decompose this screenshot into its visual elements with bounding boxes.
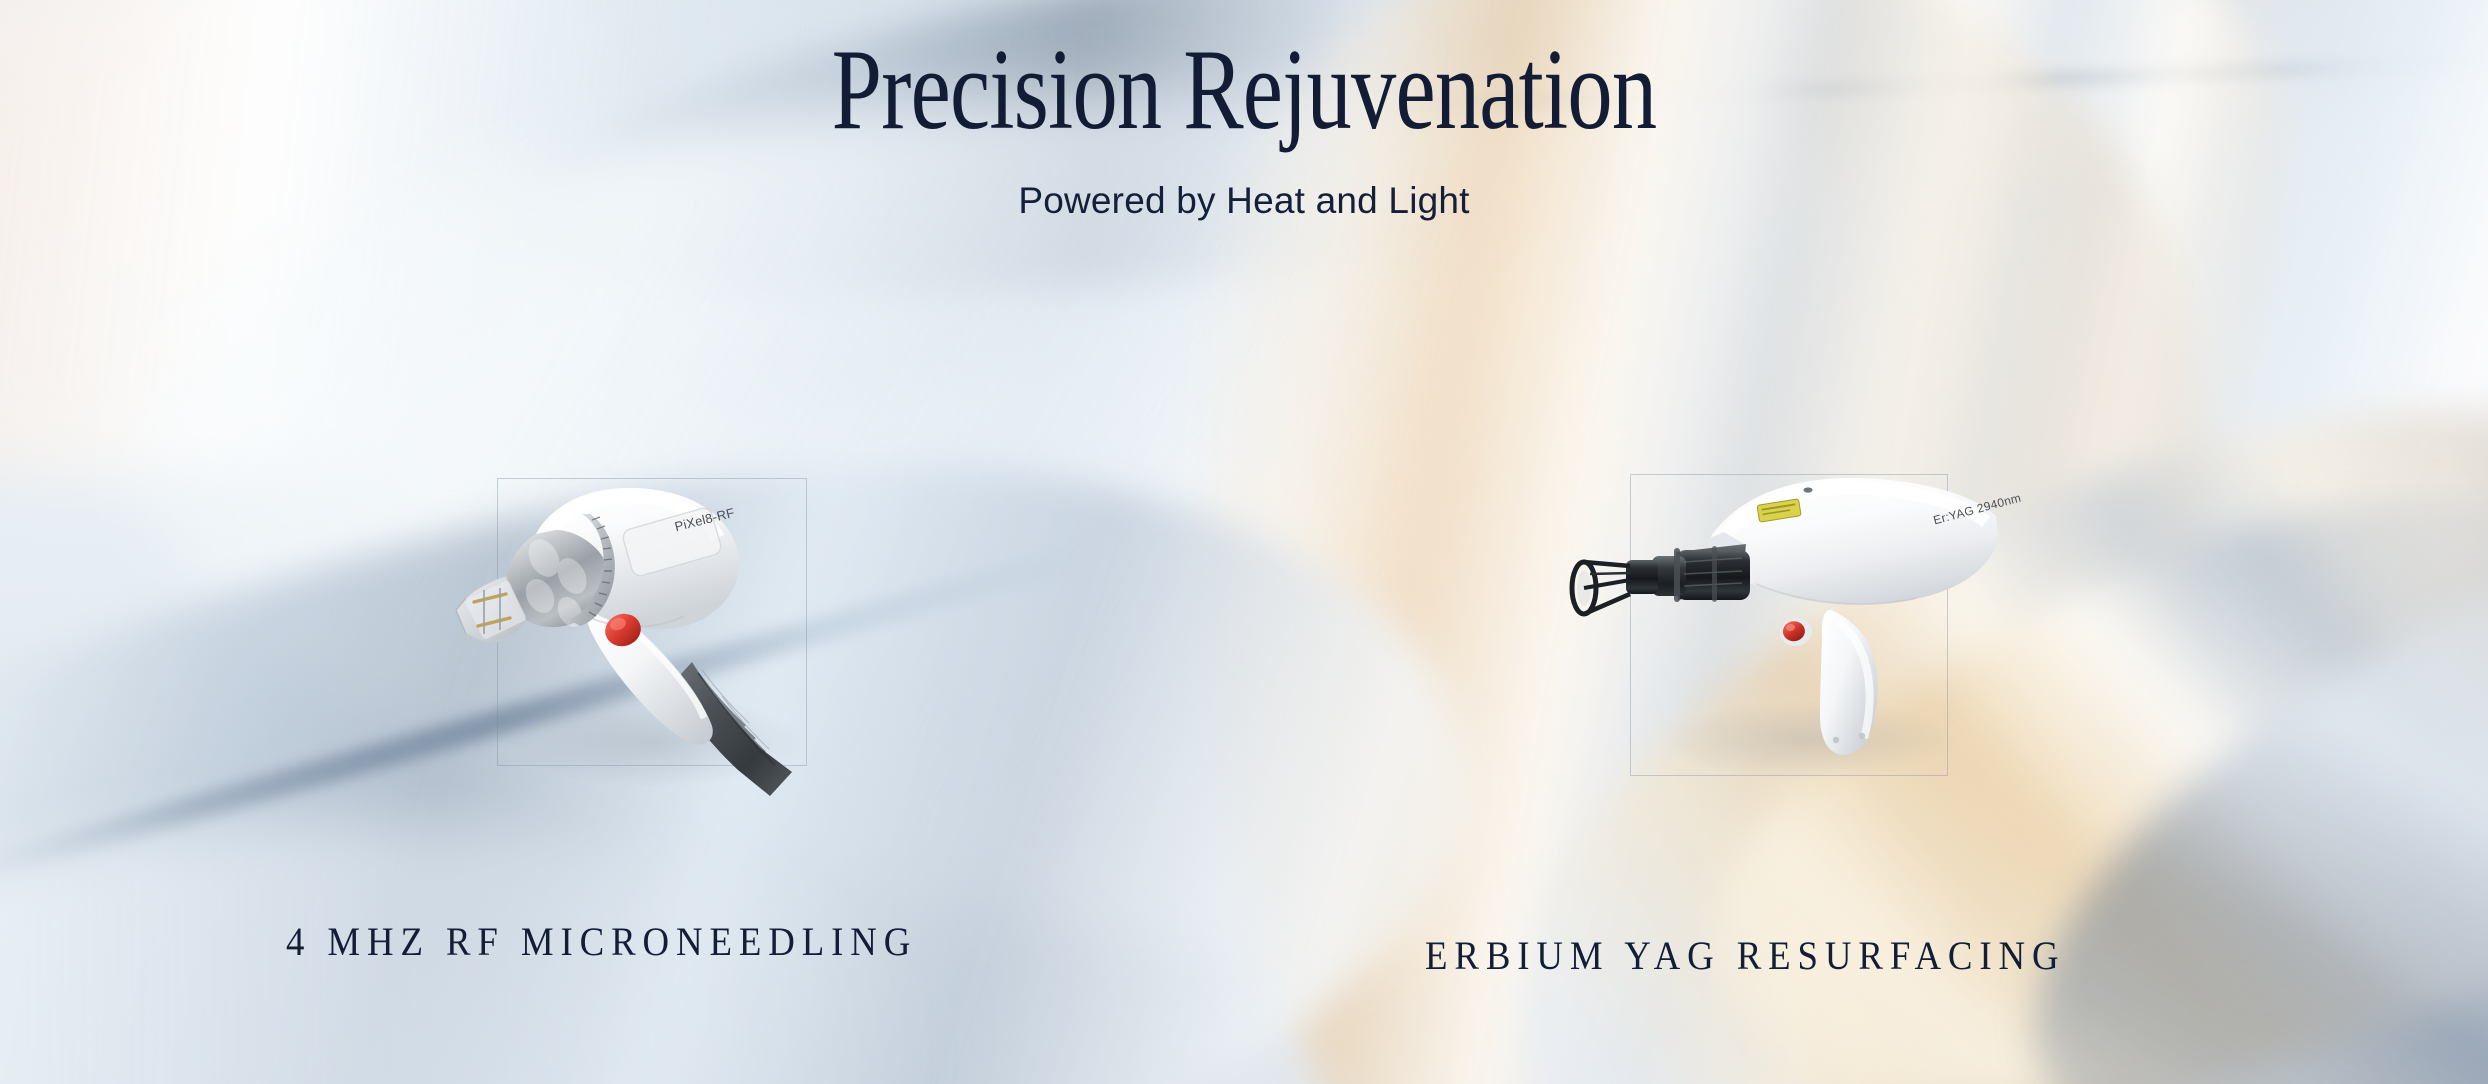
laser-barrel bbox=[1626, 544, 1750, 602]
device-erbium-yag: Er:YAG 2940nm bbox=[1560, 440, 2010, 800]
device-pixel8-rf: PiXel8-RF bbox=[440, 430, 860, 830]
laser-muzzle-cage bbox=[1572, 562, 1630, 614]
grip-screw-1 bbox=[1833, 737, 1839, 743]
page-title: Precision Rejuvenation bbox=[274, 28, 2215, 153]
pixel8-rf-illustration bbox=[440, 430, 860, 830]
top-port bbox=[1804, 487, 1813, 492]
product-caption-right: ERBIUM YAG RESURFACING bbox=[1425, 932, 2065, 979]
erbium-yag-illustration bbox=[1560, 440, 2010, 800]
product-caption-left: 4 MHZ RF MICRONEEDLING bbox=[286, 918, 917, 965]
grip-screw-2 bbox=[1859, 733, 1865, 739]
device-trigger-button[interactable] bbox=[1779, 616, 1814, 647]
hero-banner: Precision Rejuvenation Powered by Heat a… bbox=[0, 0, 2488, 1084]
device-body bbox=[1709, 478, 1998, 604]
page-subtitle: Powered by Heat and Light bbox=[0, 180, 2488, 222]
